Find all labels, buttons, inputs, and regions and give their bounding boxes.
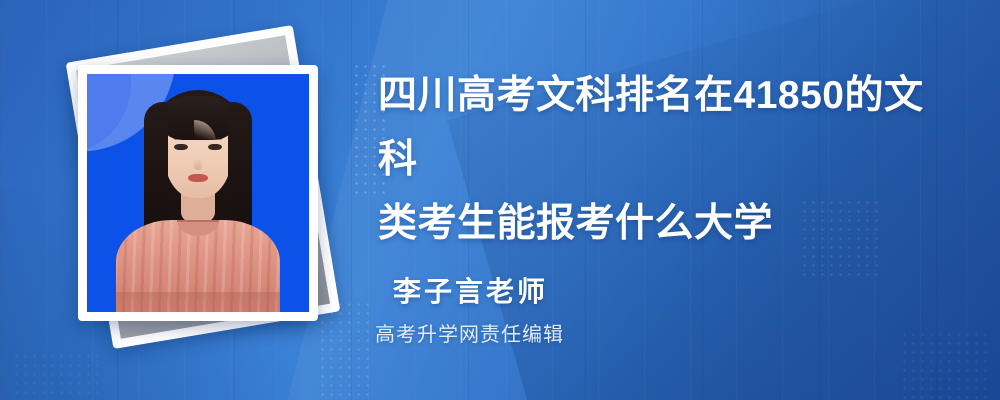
avatar — [78, 65, 318, 321]
page-title: 四川高考文科排名在41850的文科 类考生能报考什么大学 — [378, 64, 958, 256]
portrait-hair-fringe — [159, 96, 237, 140]
author-name: 李子言老师 — [393, 270, 548, 310]
portrait-nose — [194, 158, 202, 170]
banner-image: 四川高考文科排名在41850的文科 类考生能报考什么大学 李子言老师 高考升学网… — [0, 0, 1000, 400]
portrait-waistband — [116, 292, 280, 312]
portrait-lips — [188, 174, 208, 182]
portrait-eye-left — [174, 144, 188, 150]
banner-text-block: 四川高考文科排名在41850的文科 类考生能报考什么大学 李子言老师 高考升学网… — [374, 0, 974, 400]
photo-card-stack — [0, 0, 360, 400]
portrait-torso — [116, 220, 280, 312]
portrait-photo — [87, 74, 309, 312]
author-role: 高考升学网责任编辑 — [375, 318, 564, 347]
